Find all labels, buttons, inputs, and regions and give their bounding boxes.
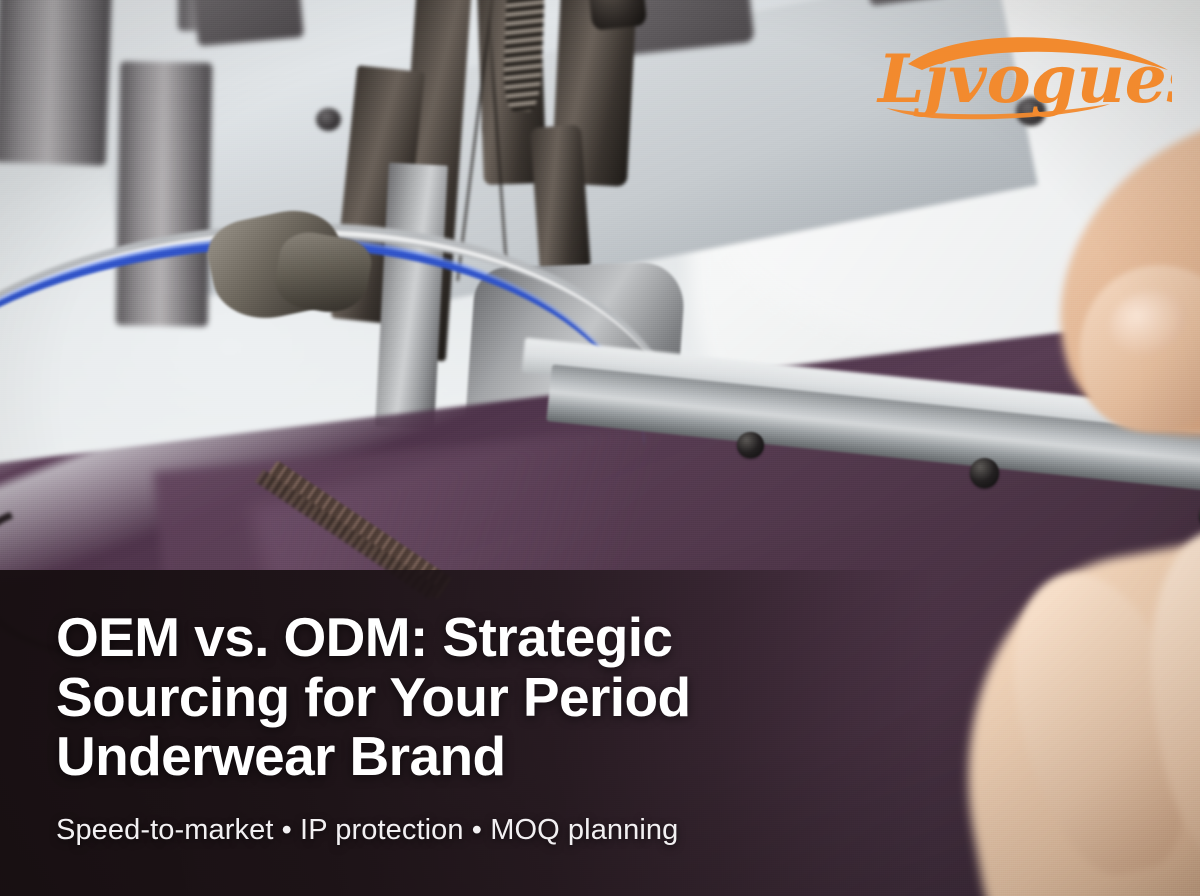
page-title: OEM vs. ODM: Strategic Sourcing for Your… <box>56 608 816 787</box>
hero-text-block: OEM vs. ODM: Strategic Sourcing for Your… <box>56 608 816 848</box>
brand-wordmark: Ljvogues <box>876 40 1172 118</box>
blog-hero-banner: OEM vs. ODM: Strategic Sourcing for Your… <box>0 0 1200 896</box>
brand-logo[interactable]: Ljvogues <box>872 24 1172 120</box>
brand-logo-svg: Ljvogues <box>872 24 1172 120</box>
hero-subtitle: Speed-to-market • IP protection • MOQ pl… <box>56 813 816 848</box>
